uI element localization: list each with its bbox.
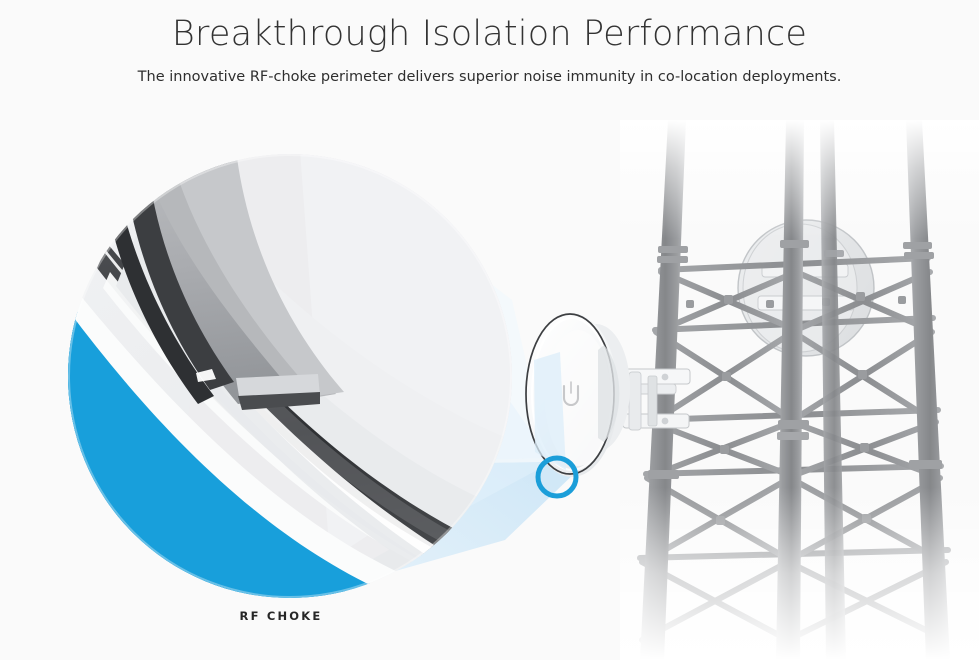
- rf-choke-caption: RF CHOKE: [0, 609, 562, 623]
- page-title: Breakthrough Isolation Performance: [0, 0, 979, 56]
- page-root: Breakthrough Isolation Performance The i…: [0, 0, 979, 660]
- page-subtitle: The innovative RF-choke perimeter delive…: [0, 56, 979, 87]
- product-illustration: [0, 0, 979, 660]
- header: Breakthrough Isolation Performance The i…: [0, 0, 979, 87]
